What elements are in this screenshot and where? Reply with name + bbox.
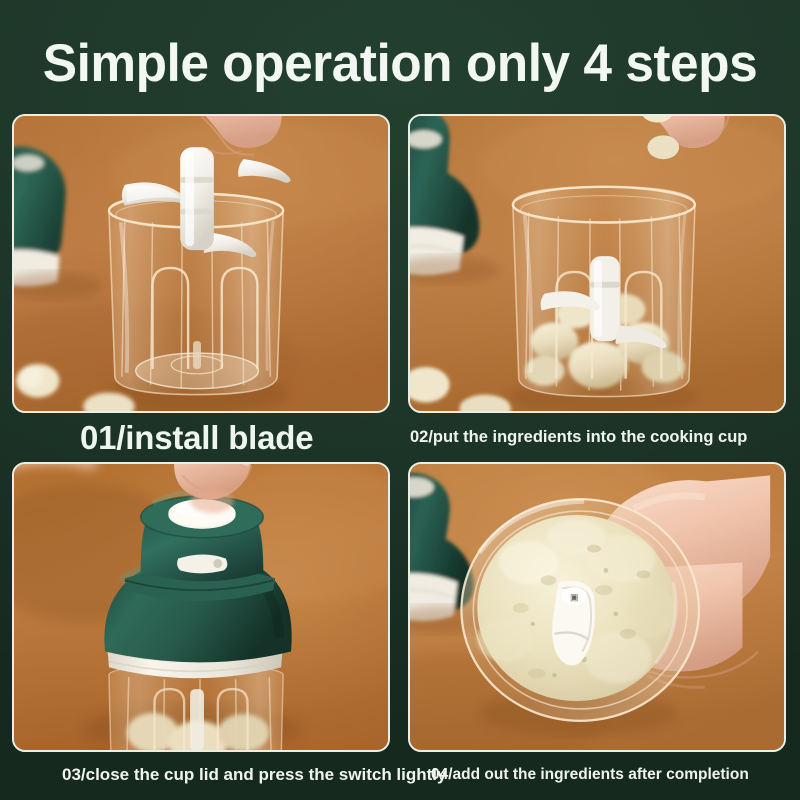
step-2-caption: 02/put the ingredients into the cooking … [410, 428, 747, 447]
svg-text:▣: ▣ [570, 592, 578, 602]
infographic-background: Simple operation only 4 steps [0, 0, 800, 800]
step-1-caption: 01/install blade [80, 419, 313, 457]
step-3-caption: 03/close the cup lid and press the switc… [62, 765, 446, 785]
page-title: Simple operation only 4 steps [12, 34, 788, 94]
step-2-photo [410, 116, 784, 411]
step-3-photo [14, 464, 388, 750]
step-2-add-ingredients [408, 114, 786, 413]
step-1-photo [14, 116, 388, 411]
step-4-caption: 04/add out the ingredients after complet… [431, 766, 749, 784]
step-4-photo: ▣ [410, 464, 784, 750]
step-3-press-switch [12, 462, 390, 752]
step-1-install-blade [12, 114, 390, 413]
step-4-remove-ingredients: ▣ [408, 462, 786, 752]
